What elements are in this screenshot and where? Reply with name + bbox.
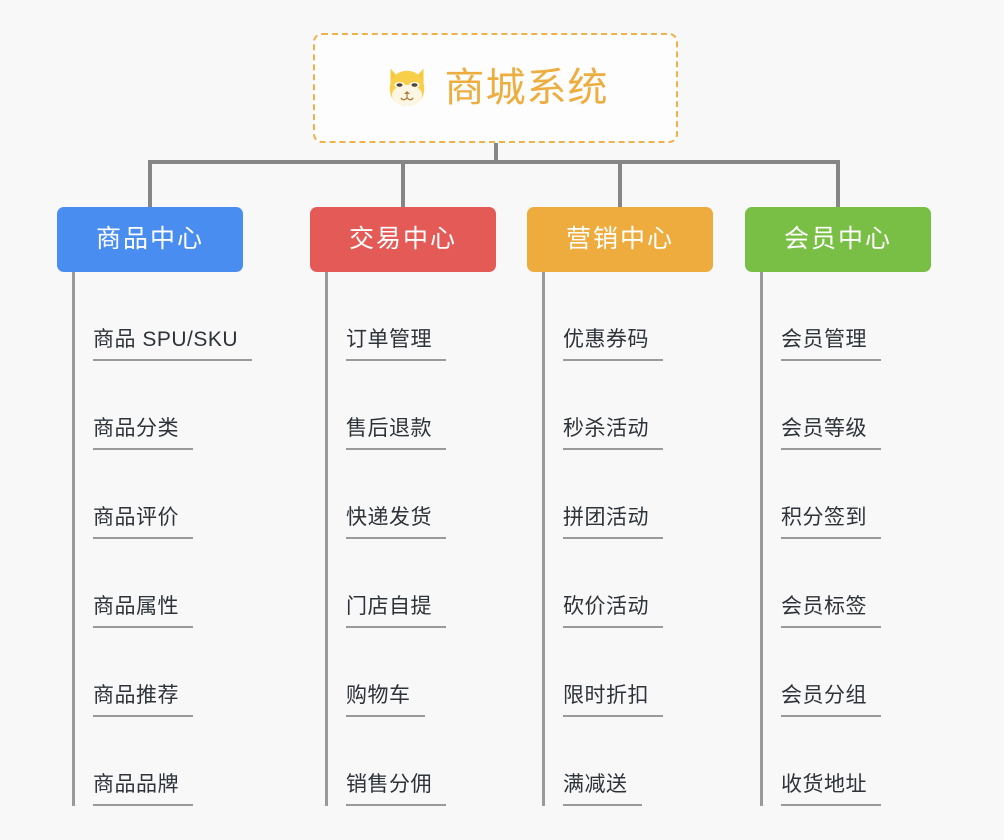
mindmap-canvas: 商城系统 商品中心商品 SPU/SKU商品分类商品评价商品属性商品推荐商品品牌交…	[0, 0, 1004, 840]
leaf-item-label: 砍价活动	[563, 596, 663, 628]
category-label: 会员中心	[784, 227, 892, 252]
leaf-item[interactable]: 限时折扣	[545, 628, 713, 717]
leaf-item-label: 限时折扣	[563, 685, 663, 717]
leaf-item-label: 销售分佣	[346, 774, 446, 806]
leaf-item[interactable]: 商品属性	[75, 539, 243, 628]
leaf-item-label: 积分签到	[781, 507, 881, 539]
leaf-item[interactable]: 拼团活动	[545, 450, 713, 539]
leaf-item-label: 优惠券码	[563, 329, 663, 361]
category-column-trade-center: 交易中心订单管理售后退款快递发货门店自提购物车销售分佣	[310, 207, 496, 806]
leaf-item[interactable]: 会员标签	[763, 539, 931, 628]
category-box-product-center[interactable]: 商品中心	[57, 207, 243, 272]
root-node-mall-system[interactable]: 商城系统	[313, 33, 678, 143]
category-label: 营销中心	[566, 227, 674, 252]
leaf-list-trade-center: 订单管理售后退款快递发货门店自提购物车销售分佣	[325, 272, 496, 806]
category-column-member-center: 会员中心会员管理会员等级积分签到会员标签会员分组收货地址	[745, 207, 931, 806]
leaf-item-label: 会员等级	[781, 418, 881, 450]
category-box-trade-center[interactable]: 交易中心	[310, 207, 496, 272]
category-box-member-center[interactable]: 会员中心	[745, 207, 931, 272]
shiba-dog-face-icon	[383, 64, 431, 112]
leaf-item-label: 商品评价	[93, 507, 193, 539]
leaf-item-label: 会员管理	[781, 329, 881, 361]
leaf-item-label: 商品推荐	[93, 685, 193, 717]
leaf-item-label: 收货地址	[781, 774, 881, 806]
leaf-item-label: 商品分类	[93, 418, 193, 450]
leaf-item[interactable]: 秒杀活动	[545, 361, 713, 450]
connector-horizontal-bus	[150, 160, 840, 164]
leaf-item[interactable]: 订单管理	[328, 272, 496, 361]
leaf-item[interactable]: 商品推荐	[75, 628, 243, 717]
leaf-item[interactable]: 优惠券码	[545, 272, 713, 361]
leaf-item[interactable]: 满减送	[545, 717, 713, 806]
leaf-item-label: 商品属性	[93, 596, 193, 628]
leaf-item[interactable]: 销售分佣	[328, 717, 496, 806]
leaf-item-label: 商品 SPU/SKU	[93, 329, 252, 361]
leaf-item[interactable]: 售后退款	[328, 361, 496, 450]
connector-drop-marketing-center	[618, 160, 622, 208]
leaf-item-label: 订单管理	[346, 329, 446, 361]
leaf-list-marketing-center: 优惠券码秒杀活动拼团活动砍价活动限时折扣满减送	[542, 272, 713, 806]
connector-drop-member-center	[836, 160, 840, 208]
leaf-item-label: 售后退款	[346, 418, 446, 450]
category-box-marketing-center[interactable]: 营销中心	[527, 207, 713, 272]
leaf-item-label: 拼团活动	[563, 507, 663, 539]
connector-drop-trade-center	[401, 160, 405, 208]
leaf-item-label: 商品品牌	[93, 774, 193, 806]
leaf-item-label: 门店自提	[346, 596, 446, 628]
leaf-item-label: 满减送	[563, 774, 642, 806]
leaf-item-label: 快递发货	[346, 507, 446, 539]
leaf-item[interactable]: 收货地址	[763, 717, 931, 806]
leaf-item[interactable]: 商品分类	[75, 361, 243, 450]
leaf-item-label: 会员标签	[781, 596, 881, 628]
leaf-item[interactable]: 门店自提	[328, 539, 496, 628]
leaf-item[interactable]: 商品 SPU/SKU	[75, 272, 243, 361]
leaf-list-product-center: 商品 SPU/SKU商品分类商品评价商品属性商品推荐商品品牌	[72, 272, 243, 806]
category-label: 商品中心	[96, 227, 204, 252]
leaf-item[interactable]: 商品品牌	[75, 717, 243, 806]
leaf-item[interactable]: 快递发货	[328, 450, 496, 539]
leaf-item-label: 购物车	[346, 685, 425, 717]
leaf-item[interactable]: 购物车	[328, 628, 496, 717]
leaf-item-label: 秒杀活动	[563, 418, 663, 450]
leaf-item[interactable]: 会员分组	[763, 628, 931, 717]
leaf-item[interactable]: 砍价活动	[545, 539, 713, 628]
leaf-item[interactable]: 会员等级	[763, 361, 931, 450]
category-column-marketing-center: 营销中心优惠券码秒杀活动拼团活动砍价活动限时折扣满减送	[527, 207, 713, 806]
leaf-item[interactable]: 商品评价	[75, 450, 243, 539]
root-node-label: 商城系统	[445, 68, 609, 108]
category-column-product-center: 商品中心商品 SPU/SKU商品分类商品评价商品属性商品推荐商品品牌	[57, 207, 243, 806]
leaf-item[interactable]: 会员管理	[763, 272, 931, 361]
category-label: 交易中心	[349, 227, 457, 252]
leaf-list-member-center: 会员管理会员等级积分签到会员标签会员分组收货地址	[760, 272, 931, 806]
leaf-item-label: 会员分组	[781, 685, 881, 717]
connector-drop-product-center	[148, 160, 152, 208]
leaf-item[interactable]: 积分签到	[763, 450, 931, 539]
